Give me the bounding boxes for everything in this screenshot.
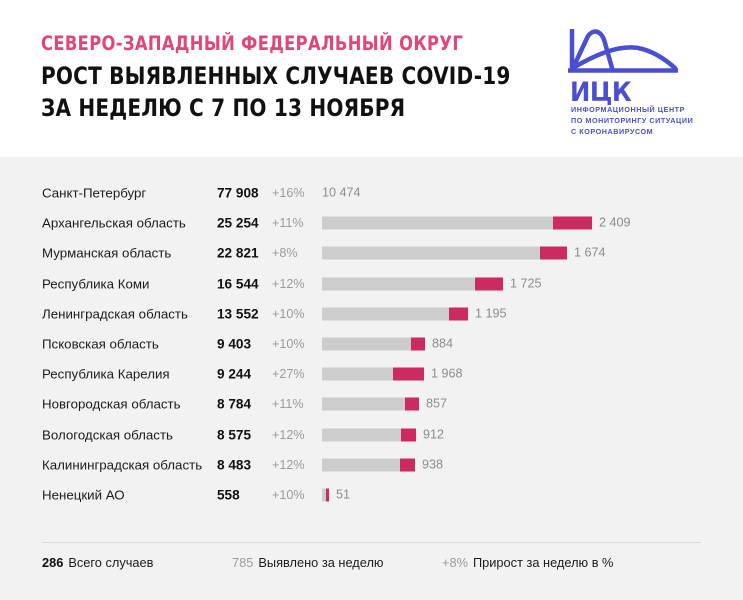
table-row: Калининградская область8 483+12%938 (0, 450, 743, 480)
row-growth-percent: +27% (272, 367, 305, 381)
header-kicker: СЕВЕРО-ЗАПАДНЫЙ ФЕДЕРАЛЬНЫЙ ОКРУГ (41, 33, 478, 54)
row-bar: 1 674 (322, 247, 606, 260)
legend-item-value: 286 (42, 555, 63, 570)
row-growth-percent: +16% (272, 186, 305, 200)
bar-segment-existing (322, 368, 393, 381)
row-region-label: Калининградская область (42, 457, 202, 472)
legend-item-label: Всего случаев (68, 555, 153, 570)
legend-item-label: Прирост за неделю в % (473, 555, 613, 570)
row-weekly-cases: 1 725 (510, 277, 542, 290)
legend-item-value: 785 (232, 555, 253, 570)
row-growth-percent: +8% (272, 246, 298, 260)
row-region-label: Вологодская область (42, 427, 173, 442)
table-row: Архангельская область25 254+11%2 409 (0, 208, 743, 238)
row-total-cases: 16 544 (217, 276, 259, 291)
page-title-line-2: ЗА НЕДЕЛЮ С 7 ПО 13 НОЯБРЯ (41, 93, 478, 124)
region-table: Санкт-Петербург77 908+16%10 474Архангель… (0, 178, 743, 510)
bar-segment-weekly (393, 368, 424, 381)
row-weekly-cases: 10 474 (322, 187, 361, 200)
row-region-label: Республика Карелия (42, 367, 170, 382)
legend-item: 785Выявлено за неделю (232, 553, 384, 573)
logo-subtitle: ИНФОРМАЦИОННЫЙ ЦЕНТР ПО МОНИТОРИНГУ СИТУ… (571, 105, 693, 138)
bar-segment-weekly (326, 488, 329, 501)
row-growth-percent: +11% (272, 216, 304, 230)
row-bar: 10 474 (322, 187, 361, 200)
row-total-cases: 8 784 (217, 397, 251, 412)
legend-item-label: Выявлено за неделю (258, 555, 383, 570)
row-bar: 857 (322, 398, 447, 411)
footer-divider (42, 542, 701, 543)
table-row: Ненецкий АО558+10%51 (0, 480, 743, 510)
row-region-label: Республика Коми (42, 276, 149, 291)
row-region-label: Ленинградская область (42, 306, 188, 321)
row-bar: 884 (322, 338, 453, 351)
bar-segment-existing (322, 277, 475, 290)
header-title-block: СЕВЕРО-ЗАПАДНЫЙ ФЕДЕРАЛЬНЫЙ ОКРУГ РОСТ В… (41, 33, 511, 123)
legend: 286Всего случаев785Выявлено за неделю+8%… (42, 553, 702, 575)
row-total-cases: 13 552 (217, 306, 259, 321)
row-bar: 1 195 (322, 307, 507, 320)
table-row: Республика Карелия9 244+27%1 968 (0, 359, 743, 389)
logo-subtitle-line-3: С КОРОНАВИРУСОМ (571, 127, 693, 138)
row-total-cases: 558 (217, 487, 240, 502)
row-total-cases: 77 908 (217, 186, 259, 201)
bar-segment-weekly (475, 277, 503, 290)
row-region-label: Псковская область (42, 337, 159, 352)
logo-subtitle-line-1: ИНФОРМАЦИОННЫЙ ЦЕНТР (571, 105, 693, 116)
row-growth-percent: +12% (272, 277, 305, 291)
table-row: Мурманская область22 821+8%1 674 (0, 238, 743, 268)
row-weekly-cases: 1 195 (475, 307, 507, 320)
bar-segment-weekly (405, 398, 419, 411)
row-growth-percent: +10% (272, 488, 305, 502)
row-weekly-cases: 857 (426, 398, 447, 411)
row-growth-percent: +10% (272, 307, 305, 321)
bar-segment-existing (322, 338, 411, 351)
row-growth-percent: +12% (272, 458, 305, 472)
row-bar: 912 (322, 428, 444, 441)
row-weekly-cases: 1 674 (574, 247, 606, 260)
row-bar: 1 968 (322, 368, 463, 381)
legend-item: +8%Прирост за неделю в % (442, 553, 613, 573)
bar-segment-weekly (400, 458, 415, 471)
legend-item: 286Всего случаев (42, 553, 153, 573)
row-bar: 2 409 (322, 217, 631, 230)
row-region-label: Санкт-Петербург (42, 186, 146, 201)
row-weekly-cases: 912 (423, 428, 444, 441)
row-bar: 938 (322, 458, 443, 471)
bar-segment-existing (322, 307, 449, 320)
epidemic-curve-logo-icon (568, 29, 678, 77)
row-region-label: Мурманская область (42, 246, 171, 261)
table-row: Ленинградская область13 552+10%1 195 (0, 299, 743, 329)
row-region-label: Ненецкий АО (42, 487, 125, 502)
row-bar: 51 (322, 488, 350, 501)
row-growth-percent: +10% (272, 337, 305, 351)
row-weekly-cases: 938 (422, 458, 443, 471)
bar-segment-weekly (540, 247, 567, 260)
row-total-cases: 9 403 (217, 337, 251, 352)
bar-segment-weekly (401, 428, 416, 441)
table-row: Новгородская область8 784+11%857 (0, 389, 743, 419)
row-growth-percent: +11% (272, 397, 304, 411)
logo: ИЦК ИНФОРМАЦИОННЫЙ ЦЕНТР ПО МОНИТОРИНГУ … (568, 29, 718, 137)
bar-segment-weekly (449, 307, 468, 320)
bar-segment-existing (322, 217, 553, 230)
row-weekly-cases: 884 (432, 338, 453, 351)
row-total-cases: 8 483 (217, 457, 251, 472)
row-weekly-cases: 1 968 (431, 368, 463, 381)
row-weekly-cases: 51 (336, 488, 350, 501)
bar-segment-weekly (411, 338, 425, 351)
table-row: Псковская область9 403+10%884 (0, 329, 743, 359)
bar-segment-existing (322, 458, 400, 471)
row-total-cases: 22 821 (217, 246, 259, 261)
table-row: Вологодская область8 575+12%912 (0, 420, 743, 450)
table-row: Санкт-Петербург77 908+16%10 474 (0, 178, 743, 208)
row-growth-percent: +12% (272, 428, 305, 442)
logo-wordmark: ИЦК (570, 79, 631, 106)
logo-subtitle-line-2: ПО МОНИТОРИНГУ СИТУАЦИИ (571, 116, 693, 127)
bar-segment-existing (322, 247, 540, 260)
bar-segment-existing (322, 398, 405, 411)
legend-item-value: +8% (442, 555, 468, 570)
bar-segment-existing (322, 428, 401, 441)
row-total-cases: 8 575 (217, 427, 251, 442)
row-region-label: Архангельская область (42, 216, 186, 231)
page-title-line-1: РОСТ ВЫЯВЛЕННЫХ СЛУЧАЕВ COVID-19 (41, 61, 478, 92)
row-bar: 1 725 (322, 277, 542, 290)
row-region-label: Новгородская область (42, 397, 181, 412)
bar-segment-weekly (553, 217, 592, 230)
row-total-cases: 9 244 (217, 367, 251, 382)
row-weekly-cases: 2 409 (599, 217, 631, 230)
row-total-cases: 25 254 (217, 216, 259, 231)
table-row: Республика Коми16 544+12%1 725 (0, 269, 743, 299)
